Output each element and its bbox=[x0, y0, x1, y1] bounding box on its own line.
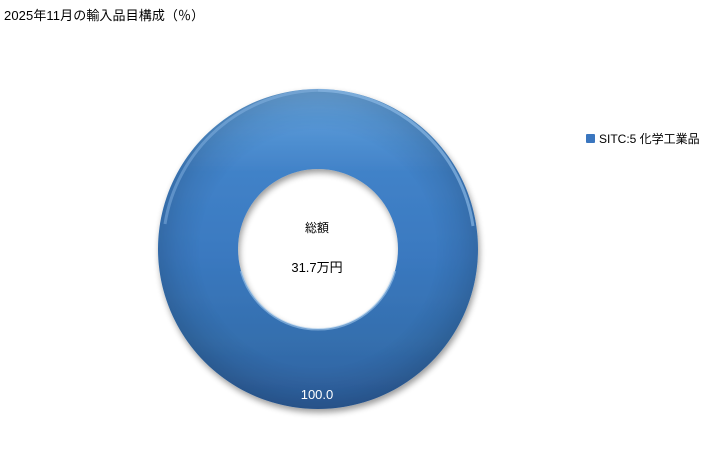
legend-swatch-icon bbox=[586, 134, 595, 143]
donut-chart bbox=[155, 86, 481, 416]
chart-title: 2025年11月の輸入品目構成（％） bbox=[4, 7, 204, 24]
chart-container: 2025年11月の輸入品目構成（％） bbox=[0, 0, 728, 450]
plot-area: 総額 31.7万円 100.0 bbox=[0, 30, 575, 450]
donut-svg bbox=[155, 86, 481, 416]
legend-item-sitc5[interactable]: SITC:5 化学工業品 bbox=[586, 131, 728, 147]
legend-item-label: SITC:5 化学工業品 bbox=[599, 131, 700, 147]
chart-legend: SITC:5 化学工業品 bbox=[586, 131, 728, 151]
